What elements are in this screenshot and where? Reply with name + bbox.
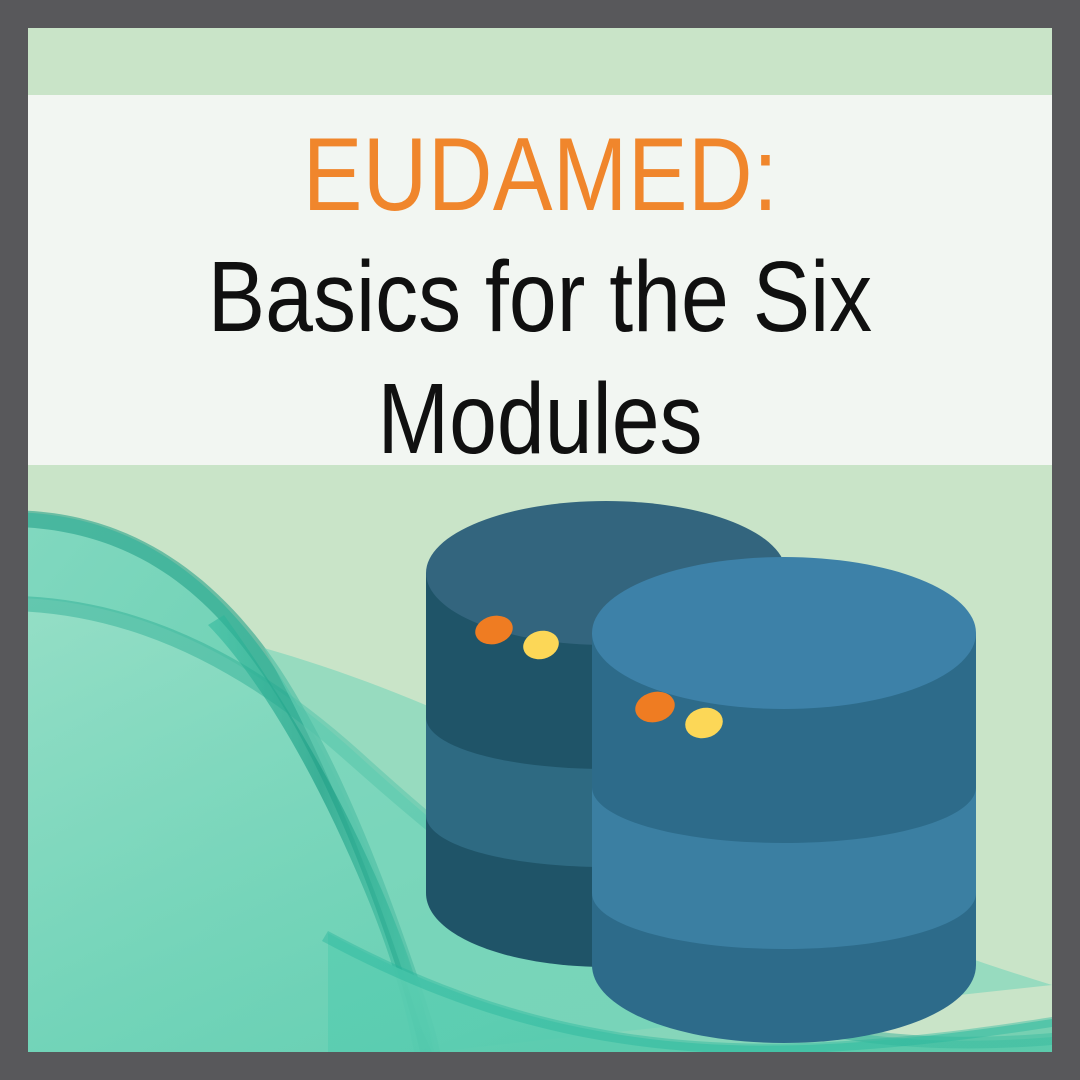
illustration-region — [28, 465, 1052, 1052]
front-database-cylinder — [592, 557, 976, 1043]
front-cylinder-top — [592, 557, 976, 709]
top-green-band — [28, 28, 1052, 95]
headline-plate: EUDAMED: Basics for the Six Modules — [28, 95, 1052, 465]
database-stack-illustration — [28, 465, 1052, 1052]
poster-card: EUDAMED: Basics for the Six Modules — [28, 28, 1052, 1052]
headline-secondary: Basics for the Six Modules — [119, 236, 962, 480]
headline-primary: EUDAMED: — [302, 121, 778, 230]
database-svg — [28, 465, 1052, 1052]
poster-canvas: EUDAMED: Basics for the Six Modules — [0, 0, 1080, 1080]
